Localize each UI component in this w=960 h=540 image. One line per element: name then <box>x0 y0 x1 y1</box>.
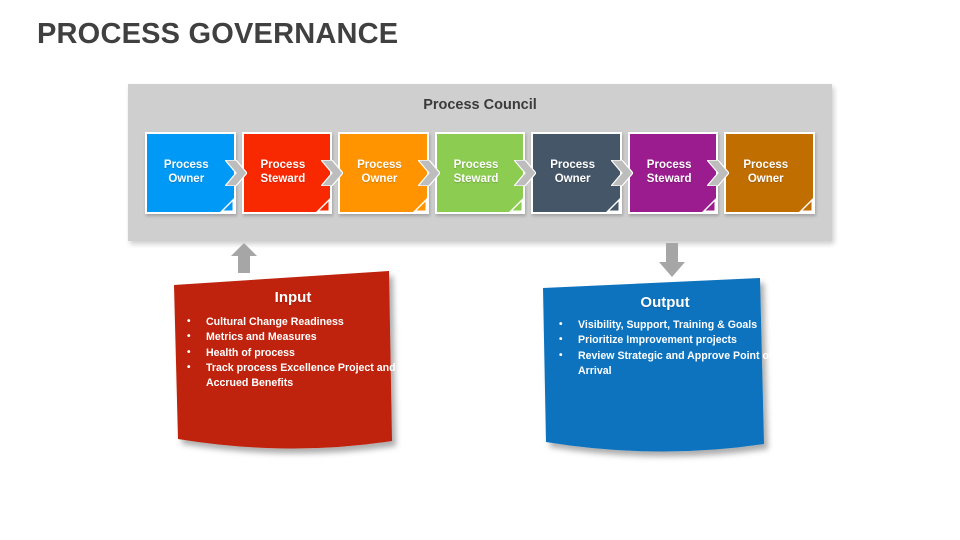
list-item-label: Review Strategic and Approve Point of Ar… <box>578 350 772 377</box>
output-panel-content: Output •Visibility, Support, Training & … <box>538 278 788 379</box>
process-council-title: Process Council <box>128 97 832 113</box>
council-card-label: ProcessSteward <box>454 159 507 186</box>
bullet-icon: • <box>187 315 191 330</box>
council-card-label: ProcessOwner <box>357 159 410 186</box>
council-card-owner-7[interactable]: ProcessOwner <box>724 132 815 214</box>
chevron-right-icon <box>707 160 729 186</box>
council-card-label: ProcessOwner <box>164 159 217 186</box>
arrow-up-icon <box>231 243 257 273</box>
folded-corner-icon <box>220 198 234 212</box>
bullet-icon: • <box>187 346 191 361</box>
page-title: PROCESS GOVERNANCE <box>37 18 398 51</box>
input-panel-heading: Input <box>178 289 402 306</box>
council-card-owner-5[interactable]: ProcessOwner <box>531 132 622 214</box>
council-card-steward-2[interactable]: ProcessSteward <box>242 132 333 214</box>
input-bullet-list: •Cultural Change Readiness•Metrics and M… <box>178 315 402 392</box>
list-item: •Metrics and Measures <box>178 330 402 345</box>
council-card-steward-6[interactable]: ProcessSteward <box>628 132 719 214</box>
list-item-label: Prioritize Improvement projects <box>578 334 737 346</box>
chevron-right-icon <box>611 160 633 186</box>
council-card-owner-3[interactable]: ProcessOwner <box>338 132 429 214</box>
council-card-row: ProcessOwnerProcessStewardProcessOwnerPr… <box>145 132 815 214</box>
output-panel-heading: Output <box>550 294 774 311</box>
bullet-icon: • <box>559 349 563 364</box>
council-card-label: ProcessSteward <box>260 159 313 186</box>
folded-corner-icon <box>509 198 523 212</box>
council-card-label: ProcessOwner <box>743 159 796 186</box>
list-item-label: Track process Excellence Project and Acc… <box>206 362 396 389</box>
chevron-right-icon <box>514 160 536 186</box>
list-item: •Visibility, Support, Training & Goals <box>550 318 774 333</box>
chevron-right-icon <box>321 160 343 186</box>
list-item: •Prioritize Improvement projects <box>550 333 774 348</box>
council-card-owner-1[interactable]: ProcessOwner <box>145 132 236 214</box>
folded-corner-icon <box>702 198 716 212</box>
list-item: •Track process Excellence Project and Ac… <box>178 361 402 392</box>
list-item: •Review Strategic and Approve Point of A… <box>550 349 774 380</box>
folded-corner-icon <box>606 198 620 212</box>
list-item: •Health of process <box>178 346 402 361</box>
output-panel: Output •Visibility, Support, Training & … <box>538 278 788 468</box>
bullet-icon: • <box>187 330 191 345</box>
list-item-label: Cultural Change Readiness <box>206 316 344 328</box>
output-bullet-list: •Visibility, Support, Training & Goals•P… <box>550 318 774 379</box>
council-card-label: ProcessOwner <box>550 159 603 186</box>
council-card-label: ProcessSteward <box>647 159 700 186</box>
process-council-band: Process Council ProcessOwnerProcessStewa… <box>128 84 832 241</box>
input-panel: Input •Cultural Change Readiness•Metrics… <box>168 271 416 467</box>
list-item-label: Health of process <box>206 347 295 359</box>
chevron-right-icon <box>418 160 440 186</box>
bullet-icon: • <box>187 361 191 376</box>
chevron-right-icon <box>225 160 247 186</box>
folded-corner-icon <box>316 198 330 212</box>
bullet-icon: • <box>559 318 563 333</box>
folded-corner-icon <box>799 198 813 212</box>
list-item-label: Visibility, Support, Training & Goals <box>578 319 757 331</box>
arrow-down-icon <box>659 243 685 277</box>
folded-corner-icon <box>413 198 427 212</box>
list-item-label: Metrics and Measures <box>206 331 317 343</box>
council-card-steward-4[interactable]: ProcessSteward <box>435 132 526 214</box>
bullet-icon: • <box>559 333 563 348</box>
list-item: •Cultural Change Readiness <box>178 315 402 330</box>
input-panel-content: Input •Cultural Change Readiness•Metrics… <box>168 271 416 392</box>
